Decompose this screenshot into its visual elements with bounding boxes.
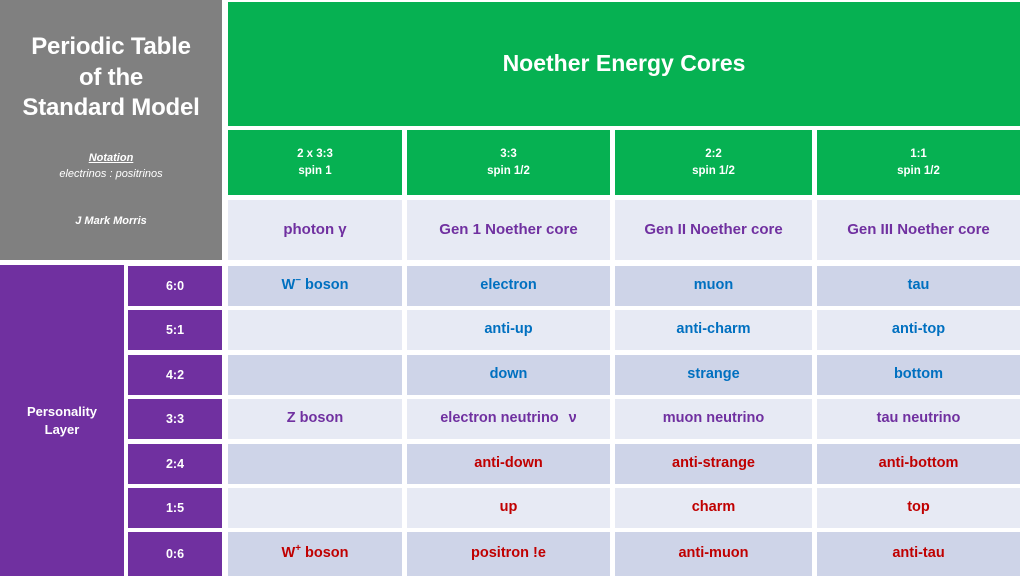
row-ratio-text: 3:3	[166, 412, 184, 427]
particle-label: W− boson	[282, 277, 349, 294]
particle-cell: W− boson	[228, 266, 402, 306]
particle-cell: anti-muon	[615, 532, 812, 576]
particle-cell: electron	[407, 266, 610, 306]
particle-cell: anti-charm	[615, 310, 812, 350]
particle-label: W+ boson	[282, 545, 349, 562]
core-name-2: Gen II Noether core	[615, 200, 812, 260]
particle-label: anti-bottom	[879, 455, 959, 472]
particle-cell: electron neutrinoν	[407, 399, 610, 439]
personality-layer-label-line1: Personality	[27, 403, 97, 421]
column-header-spin-2: spin 1/2	[692, 163, 735, 180]
row-ratio-label: 5:1	[128, 310, 222, 350]
particle-cell: charm	[615, 488, 812, 528]
personality-layer-block: Personality Layer	[0, 265, 124, 576]
particle-cell: anti-strange	[615, 444, 812, 484]
column-header-ratio-2: 2:2	[705, 146, 722, 163]
particle-cell	[228, 488, 402, 528]
particle-label: top	[907, 499, 930, 516]
personality-layer-label-line2: Layer	[45, 421, 80, 439]
page-title-line2: of the	[22, 63, 199, 94]
column-header-0: 2 x 3:3 spin 1	[228, 130, 402, 195]
row-ratio-label: 4:2	[128, 355, 222, 395]
page-title-line3: Standard Model	[22, 93, 199, 124]
core-name-label-3: Gen III Noether core	[847, 221, 990, 239]
title-panel: Periodic Table of the Standard Model Not…	[0, 0, 222, 260]
author-credit: J Mark Morris	[75, 215, 147, 228]
particle-cell: anti-tau	[817, 532, 1020, 576]
particle-label: tau	[908, 277, 930, 294]
particle-label: muon	[694, 277, 733, 294]
particle-cell: tau	[817, 266, 1020, 306]
particle-label: anti-tau	[892, 545, 944, 562]
row-ratio-text: 0:6	[166, 547, 184, 562]
particle-cell	[228, 310, 402, 350]
particle-label: anti-top	[892, 321, 945, 338]
column-header-ratio-3: 1:1	[910, 146, 927, 163]
core-name-0: photon γ	[228, 200, 402, 260]
particle-cell: muon	[615, 266, 812, 306]
particle-label: electron neutrinoν	[440, 410, 577, 427]
particle-label: tau neutrino	[877, 410, 961, 427]
particle-label: down	[490, 366, 528, 383]
particle-label: Z boson	[287, 410, 343, 427]
column-header-ratio-1: 3:3	[500, 146, 517, 163]
core-name-3: Gen III Noether core	[817, 200, 1020, 260]
particle-cell: positron !e	[407, 532, 610, 576]
column-header-spin-1: spin 1/2	[487, 163, 530, 180]
column-header-2: 2:2 spin 1/2	[615, 130, 812, 195]
core-name-label-0: photon γ	[283, 221, 346, 239]
particle-label: muon neutrino	[663, 410, 765, 427]
particle-cell: top	[817, 488, 1020, 528]
particle-label: positron !e	[471, 545, 546, 562]
particle-cell: tau neutrino	[817, 399, 1020, 439]
row-ratio-text: 2:4	[166, 457, 184, 472]
core-name-1: Gen 1 Noether core	[407, 200, 610, 260]
particle-label: anti-charm	[676, 321, 750, 338]
page-title: Periodic Table of the Standard Model	[22, 32, 199, 124]
particle-cell	[228, 355, 402, 395]
column-header-ratio-0: 2 x 3:3	[297, 146, 333, 163]
particle-cell: Z boson	[228, 399, 402, 439]
periodic-table-standard-model: Periodic Table of the Standard Model Not…	[0, 0, 1024, 576]
particle-label: up	[500, 499, 518, 516]
row-ratio-label: 3:3	[128, 399, 222, 439]
particle-label: strange	[687, 366, 739, 383]
particle-cell: W+ boson	[228, 532, 402, 576]
particle-label: bottom	[894, 366, 943, 383]
particle-label: anti-up	[484, 321, 532, 338]
particle-cell: muon neutrino	[615, 399, 812, 439]
row-ratio-text: 6:0	[166, 279, 184, 294]
row-ratio-label: 1:5	[128, 488, 222, 528]
column-header-spin-3: spin 1/2	[897, 163, 940, 180]
particle-cell: bottom	[817, 355, 1020, 395]
notation-heading: Notation	[59, 150, 162, 167]
row-ratio-text: 1:5	[166, 501, 184, 516]
particle-cell	[228, 444, 402, 484]
particle-label: anti-strange	[672, 455, 755, 472]
particle-cell: anti-bottom	[817, 444, 1020, 484]
row-ratio-label: 6:0	[128, 266, 222, 306]
core-name-label-2: Gen II Noether core	[644, 221, 782, 239]
particle-label: anti-down	[474, 455, 542, 472]
particle-cell: anti-top	[817, 310, 1020, 350]
particle-cell: up	[407, 488, 610, 528]
particle-cell: anti-down	[407, 444, 610, 484]
particle-label: electron	[480, 277, 536, 294]
row-ratio-label: 2:4	[128, 444, 222, 484]
banner-label: Noether Energy Cores	[503, 50, 746, 78]
particle-label: anti-muon	[678, 545, 748, 562]
particle-cell: strange	[615, 355, 812, 395]
banner-noether-energy-cores: Noether Energy Cores	[228, 2, 1020, 126]
column-header-spin-0: spin 1	[298, 163, 331, 180]
notation-block: Notation electrinos : positrinos	[59, 150, 162, 183]
particle-cell: anti-up	[407, 310, 610, 350]
row-ratio-text: 4:2	[166, 368, 184, 383]
row-ratio-label: 0:6	[128, 532, 222, 576]
column-header-1: 3:3 spin 1/2	[407, 130, 610, 195]
particle-cell: down	[407, 355, 610, 395]
page-title-line1: Periodic Table	[22, 32, 199, 63]
column-header-3: 1:1 spin 1/2	[817, 130, 1020, 195]
particle-label: charm	[692, 499, 736, 516]
core-name-label-1: Gen 1 Noether core	[439, 221, 577, 239]
row-ratio-text: 5:1	[166, 323, 184, 338]
notation-text: electrinos : positrinos	[59, 166, 162, 183]
